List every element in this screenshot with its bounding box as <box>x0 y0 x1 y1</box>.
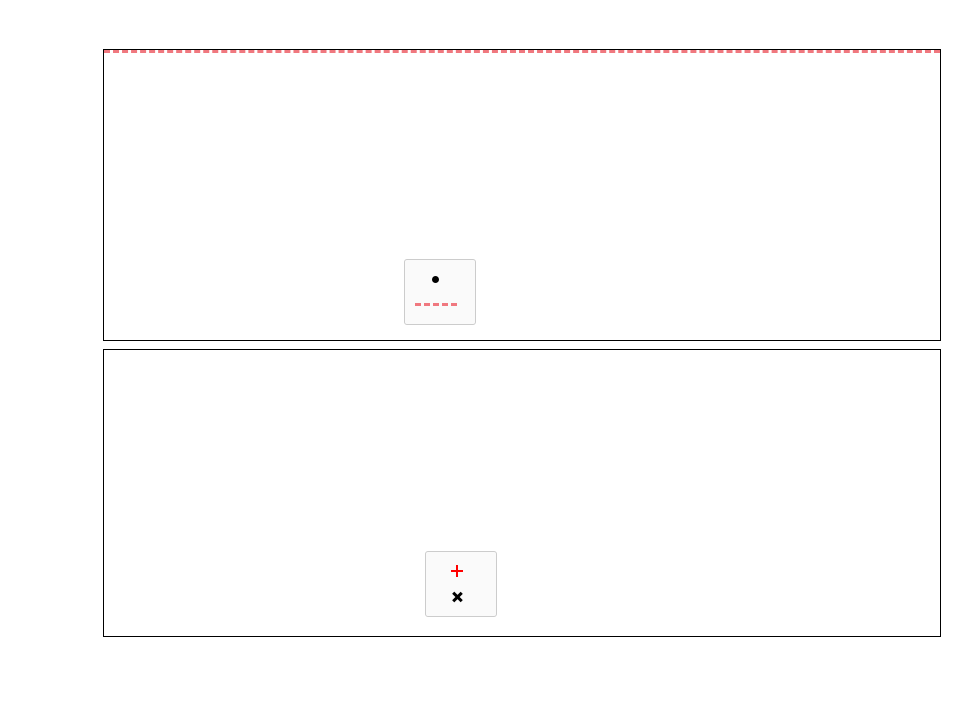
top-legend <box>404 259 476 325</box>
legend-item-measurements[interactable] <box>413 266 463 292</box>
measurement-dot-icon <box>413 269 459 289</box>
cross-marker-icon <box>434 587 480 607</box>
bottom-panel-axes <box>103 349 941 637</box>
legend-item-predicted-stars[interactable] <box>434 584 484 610</box>
legend-item-matched-stars[interactable] <box>434 558 484 584</box>
bottom-legend <box>425 551 497 617</box>
figure-canvas <box>0 0 960 720</box>
threshold-line <box>104 50 940 53</box>
plus-marker-icon <box>434 561 480 581</box>
legend-item-threshold[interactable] <box>413 292 463 318</box>
threshold-dash-icon <box>413 295 459 315</box>
top-panel-axes <box>103 49 941 341</box>
